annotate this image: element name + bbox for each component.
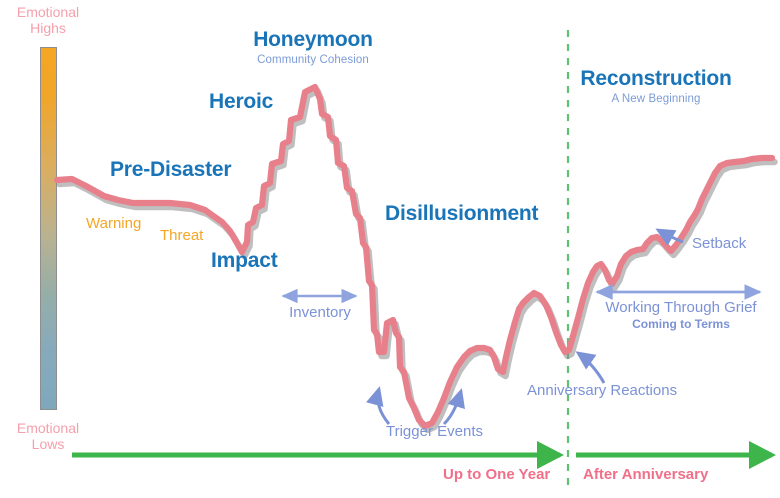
trigger-event-left-arrow [378, 389, 389, 424]
emotional-curve-shadow [60, 91, 775, 430]
disaster-phases-chart: Emotional Highs Emotional Lows [0, 0, 780, 498]
axis-label-after-anniversary: After Anniversary [583, 467, 708, 483]
minor-label-threat: Threat [160, 228, 203, 244]
minor-label-warning: Warning [86, 216, 141, 232]
annotation-inventory: Inventory [260, 305, 380, 321]
phase-group-reconstruction: Reconstruction A New Beginning [531, 68, 780, 105]
annotation-coming-to-terms: Coming to Terms [592, 318, 770, 331]
phase-label-reconstruction: Reconstruction [531, 68, 780, 90]
phase-label-disillusionment: Disillusionment [385, 203, 538, 225]
axis-label-up-to-one-year: Up to One Year [443, 467, 550, 483]
annotation-trigger-events: Trigger Events [312, 424, 557, 440]
phase-label-honeymoon: Honeymoon [233, 29, 393, 51]
phase-label-heroic: Heroic [209, 91, 273, 113]
phase-label-pre-disaster: Pre-Disaster [110, 159, 231, 181]
phase-sublabel-a-new-beginning: A New Beginning [531, 93, 780, 105]
annotation-working-through-grief: Working Through Grief [592, 300, 770, 316]
emotional-curve [57, 87, 772, 426]
phase-sublabel-community-cohesion: Community Cohesion [233, 54, 393, 66]
annotation-setback: Setback [692, 236, 746, 252]
annotation-group-working-through-grief: Working Through Grief Coming to Terms [592, 300, 770, 330]
phase-group-honeymoon: Honeymoon Community Cohesion [233, 29, 393, 66]
anniversary-reactions-arrow [578, 353, 604, 383]
annotation-anniversary-reactions: Anniversary Reactions [527, 383, 677, 399]
phase-label-impact: Impact [211, 250, 278, 272]
